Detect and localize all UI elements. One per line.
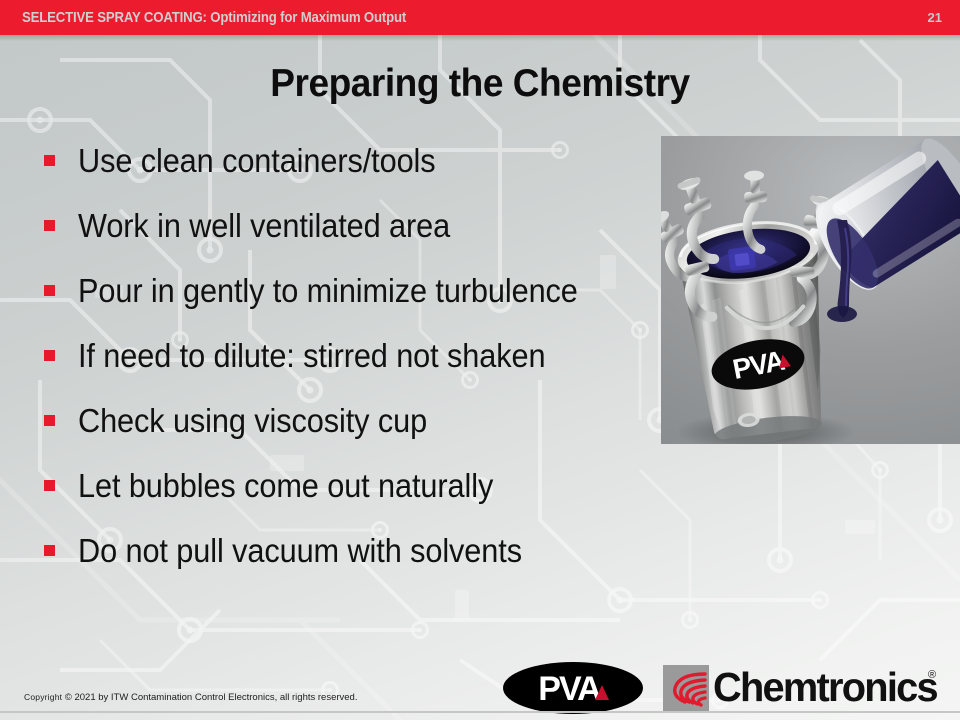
chemtronics-wordmark: Chemtronics: [713, 664, 937, 711]
pva-logo-text: PVA: [538, 670, 601, 708]
footer-divider: [0, 711, 960, 713]
square-bullet-icon: [44, 350, 55, 361]
banner-drop-shadow: [0, 35, 960, 41]
list-item: Use clean containers/tools: [38, 128, 678, 193]
header-banner: SELECTIVE SPRAY COATING: Optimizing for …: [0, 0, 960, 35]
page-number: 21: [928, 10, 942, 25]
chemtronics-swoosh-icon: [663, 665, 709, 711]
slide-canvas: SELECTIVE SPRAY COATING: Optimizing for …: [0, 0, 960, 720]
list-item-label: Pour in gently to minimize turbulence: [78, 272, 578, 310]
header-title-text: SELECTIVE SPRAY COATING: Optimizing for …: [22, 9, 406, 26]
list-item-label: Let bubbles come out naturally: [78, 467, 493, 505]
bullet-list: Use clean containers/tools Work in well …: [38, 128, 678, 583]
square-bullet-icon: [44, 285, 55, 296]
pva-logo: PVA: [503, 662, 643, 714]
list-item: Check using viscosity cup: [38, 388, 678, 453]
square-bullet-icon: [44, 545, 55, 556]
square-bullet-icon: [44, 415, 55, 426]
copyright-label: Copyright: [24, 692, 62, 702]
chemtronics-registered-mark: ®: [928, 669, 936, 681]
square-bullet-icon: [44, 480, 55, 491]
list-item-label: Do not pull vacuum with solvents: [78, 532, 522, 570]
list-item: Do not pull vacuum with solvents: [38, 518, 678, 583]
header-title: SELECTIVE SPRAY COATING: Optimizing for …: [22, 9, 406, 26]
copyright-detail: © 2021 by ITW Contamination Control Elec…: [65, 692, 358, 703]
list-item-label: If need to dilute: stirred not shaken: [78, 337, 545, 375]
copyright-text: Copyright © 2021 by ITW Contamination Co…: [24, 692, 357, 703]
list-item-label: Check using viscosity cup: [78, 402, 427, 440]
list-item: Let bubbles come out naturally: [38, 453, 678, 518]
pressure-pot-illustration: PVA: [661, 136, 960, 444]
page-title: Preparing the Chemistry: [24, 62, 936, 106]
list-item-label: Work in well ventilated area: [78, 207, 450, 245]
square-bullet-icon: [44, 155, 55, 166]
product-photo: PVA: [661, 136, 960, 444]
list-item: Work in well ventilated area: [38, 193, 678, 258]
list-item-label: Use clean containers/tools: [78, 142, 436, 180]
square-bullet-icon: [44, 220, 55, 231]
chemtronics-logo: Chemtronics ®: [660, 661, 952, 715]
list-item: If need to dilute: stirred not shaken: [38, 323, 678, 388]
list-item: Pour in gently to minimize turbulence: [38, 258, 678, 323]
